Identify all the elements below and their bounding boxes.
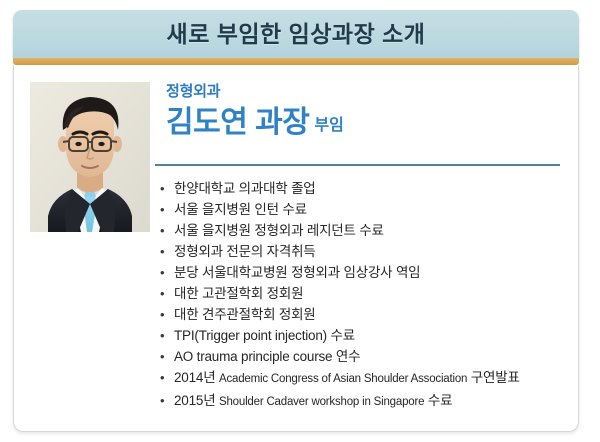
list-item-text: TPI(Trigger point injection) 수료 (174, 325, 355, 346)
slide-header-bar: 새로 부임한 임상과장 소개 (13, 10, 579, 58)
bullet-dot-icon: • (160, 390, 174, 411)
list-item: • 대한 견주관절학회 정회원 (160, 304, 570, 325)
department-label: 정형외과 (166, 82, 562, 102)
list-item-text: 정형외과 전문의 자격취득 (174, 241, 316, 262)
bullet-dot-icon: • (160, 283, 174, 304)
list-item-text: 대한 고관절학회 정회원 (174, 283, 303, 304)
bullet-dot-icon: • (160, 241, 174, 262)
profile-name-block: 정형외과 김도연 과장 부임 (166, 82, 562, 142)
list-item-text: 대한 견주관절학회 정회원 (174, 304, 316, 325)
list-item-text: 분당 서울대학교병원 정형외과 임상강사 역임 (174, 262, 420, 283)
header-accent-bar (13, 58, 579, 65)
name-divider (155, 164, 560, 166)
list-item-text: 서울 을지병원 인턴 수료 (174, 199, 307, 220)
bullet-dot-icon: • (160, 262, 174, 283)
portrait-photo-icon (30, 82, 150, 232)
list-item: • 한양대학교 의과대학 졸업 (160, 178, 570, 199)
bullet-dot-icon: • (160, 178, 174, 199)
bullet-dot-icon: • (160, 346, 174, 367)
page-title: 새로 부임한 임상과장 소개 (13, 19, 579, 49)
bullet-dot-icon: • (160, 304, 174, 325)
name-row: 김도연 과장 부임 (166, 104, 562, 142)
list-item: • 2015년 Shoulder Cadaver workshop in Sin… (160, 390, 570, 413)
list-item: • 분당 서울대학교병원 정형외과 임상강사 역임 (160, 262, 570, 283)
list-item: • 정형외과 전문의 자격취득 (160, 241, 570, 262)
list-item: • 대한 고관절학회 정회원 (160, 283, 570, 304)
appointment-label: 부임 (314, 116, 343, 136)
list-item-text: 서울 을지병원 정형외과 레지던트 수료 (174, 220, 384, 241)
person-name: 김도연 과장 (166, 104, 309, 142)
list-item-text: AO trauma principle course 연수 (174, 346, 360, 367)
list-item: • TPI(Trigger point injection) 수료 (160, 325, 570, 346)
list-item: • AO trauma principle course 연수 (160, 346, 570, 367)
list-item-text: 2014년 Academic Congress of Asian Shoulde… (174, 367, 520, 390)
list-item: • 2014년 Academic Congress of Asian Shoul… (160, 367, 570, 390)
bullet-dot-icon: • (160, 199, 174, 220)
credentials-list: • 한양대학교 의과대학 졸업 • 서울 을지병원 인턴 수료 • 서울 을지병… (160, 178, 570, 413)
list-item: • 서울 을지병원 정형외과 레지던트 수료 (160, 220, 570, 241)
avatar (30, 82, 150, 232)
list-item-text: 2015년 Shoulder Cadaver workshop in Singa… (174, 390, 452, 413)
list-item: • 서울 을지병원 인턴 수료 (160, 199, 570, 220)
bullet-dot-icon: • (160, 325, 174, 346)
list-item-text: 한양대학교 의과대학 졸업 (174, 178, 316, 199)
bullet-dot-icon: • (160, 220, 174, 241)
bullet-dot-icon: • (160, 367, 174, 388)
slide-root: 새로 부임한 임상과장 소개 (0, 0, 600, 442)
